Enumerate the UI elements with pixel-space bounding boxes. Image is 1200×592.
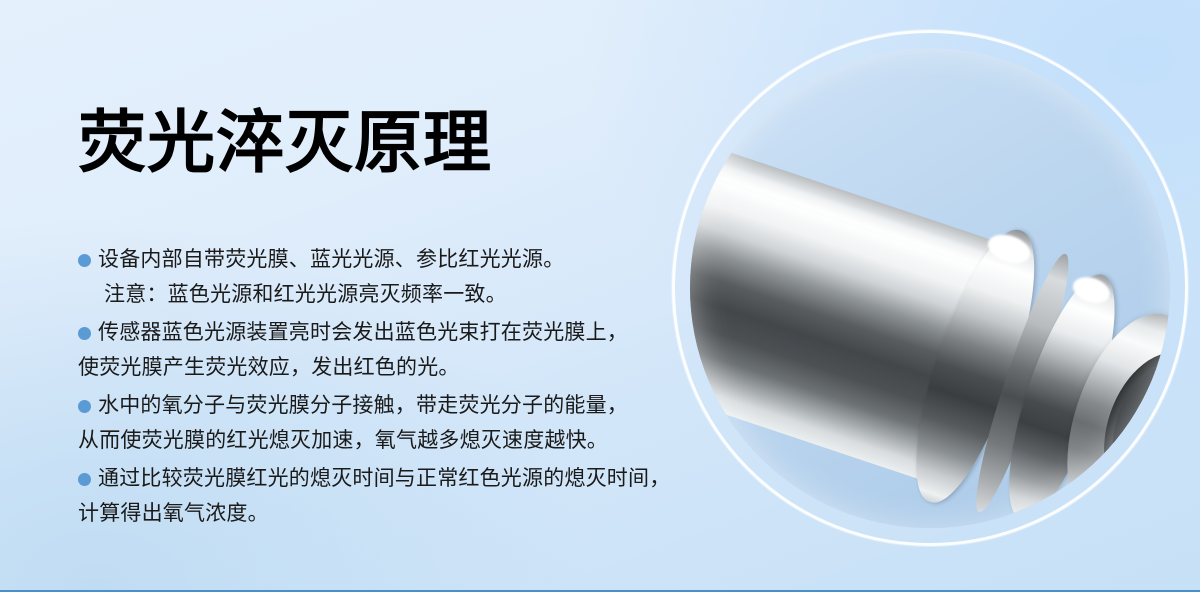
page-title: 荧光淬灭原理 — [78, 108, 492, 179]
bullet-dot-icon — [78, 254, 91, 267]
bullet-list: 设备内部自带荧光膜、蓝光光源、参比红光光源。 注意：蓝色光源和红光光源亮灭频率一… — [78, 242, 678, 534]
bullet-text: 通过比较荧光膜红光的熄灭时间与正常红色光源的熄灭时间， — [98, 467, 670, 490]
probe-collar-front-glint — [1070, 273, 1114, 308]
bullet-line: 通过比较荧光膜红光的熄灭时间与正常红色光源的熄灭时间， — [78, 461, 678, 496]
list-item: 传感器蓝色光源装置亮时会发出蓝色光束打在荧光膜上， 使荧光膜产生荧光效应，发出红… — [78, 315, 678, 385]
bullet-text: 设备内部自带荧光膜、蓝光光源、参比红光光源。 — [98, 248, 564, 271]
bullet-line: 设备内部自带荧光膜、蓝光光源、参比红光光源。 — [78, 242, 678, 277]
circle-inner-fill — [690, 48, 1170, 528]
bullet-note-text: 注意：蓝色光源和红光光源亮灭频率一致。 — [104, 283, 507, 306]
product-image-frame — [660, 18, 1200, 558]
bullet-text: 传感器蓝色光源装置亮时会发出蓝色光束打在荧光膜上， — [98, 321, 628, 344]
bullet-continuation-line: 从而使荧光膜的红光熄灭加速，氧气越多熄灭速度越快。 — [78, 423, 678, 458]
probe-shaft-highlight — [690, 145, 993, 281]
list-item: 通过比较荧光膜红光的熄灭时间与正常红色光源的熄灭时间， 计算得出氧气浓度。 — [78, 461, 678, 531]
probe-collar-rear-glint — [984, 230, 1034, 269]
bullet-text: 使荧光膜产生荧光效应，发出红色的光。 — [78, 356, 460, 379]
bullet-text: 从而使荧光膜的红光熄灭加速，氧气越多熄灭速度越快。 — [78, 429, 608, 452]
bullet-line: 水中的氧分子与荧光膜分子接触，带走荧光分子的能量， — [78, 388, 678, 423]
bullet-text: 计算得出氧气浓度。 — [78, 502, 269, 525]
bullet-continuation-line: 使荧光膜产生荧光效应，发出红色的光。 — [78, 350, 678, 385]
bullet-continuation-line: 计算得出氧气浓度。 — [78, 496, 678, 531]
bullet-line: 传感器蓝色光源装置亮时会发出蓝色光束打在荧光膜上， — [78, 315, 678, 350]
list-item: 设备内部自带荧光膜、蓝光光源、参比红光光源。 注意：蓝色光源和红光光源亮灭频率一… — [78, 242, 678, 312]
bullet-note-line: 注意：蓝色光源和红光光源亮灭频率一致。 — [78, 277, 678, 312]
bullet-dot-icon — [78, 473, 91, 486]
bullet-dot-icon — [78, 327, 91, 340]
bullet-text: 水中的氧分子与荧光膜分子接触，带走荧光分子的能量， — [98, 394, 628, 417]
slide-root: 荧光淬灭原理 设备内部自带荧光膜、蓝光光源、参比红光光源。 注意：蓝色光源和红光… — [0, 0, 1200, 592]
sensor-probe-illustration — [690, 118, 1170, 528]
probe-groove — [963, 249, 1082, 518]
bullet-dot-icon — [78, 400, 91, 413]
list-item: 水中的氧分子与荧光膜分子接触，带走荧光分子的能量， 从而使荧光膜的红光熄灭加速，… — [78, 388, 678, 458]
probe-collar-rear — [893, 218, 1058, 514]
probe-shaft — [690, 134, 997, 479]
